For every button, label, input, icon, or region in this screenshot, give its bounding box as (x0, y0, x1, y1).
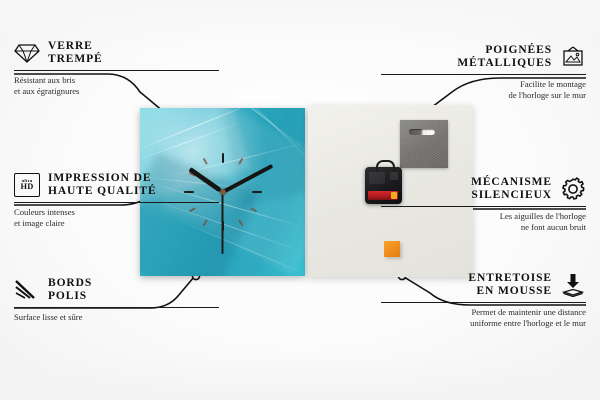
picture-frame-hanger-icon (560, 44, 586, 70)
feature-description: Résistant aux bris et aux égratignures (14, 75, 219, 96)
infographic-canvas: VERRE TREMPÉ Résistant aux bris et aux é… (0, 0, 600, 400)
feature-mecanisme-silencieux: MÉCANISME SILENCIEUX Les aiguilles de l'… (381, 176, 586, 232)
divider (14, 70, 219, 71)
feature-title: IMPRESSION DE HAUTE QUALITÉ (48, 172, 157, 198)
feature-bords-polis: BORDS POLIS Surface lisse et sûre (14, 277, 219, 323)
gear-icon (560, 176, 586, 202)
foam-spacer (384, 241, 400, 257)
feature-description: Surface lisse et sûre (14, 312, 219, 323)
feature-title: VERRE TREMPÉ (48, 40, 103, 66)
divider (14, 202, 219, 203)
diamond-icon (14, 40, 40, 66)
divider (381, 74, 586, 75)
feature-impression-haute-qualite: ultra HD IMPRESSION DE HAUTE QUALITÉ Cou… (14, 172, 219, 228)
feature-verre-trempe: VERRE TREMPÉ Résistant aux bris et aux é… (14, 40, 219, 96)
hand-center-cap (220, 189, 226, 195)
feature-poignees-metalliques: POIGNÉES MÉTALLIQUES Facilite le montage… (381, 44, 586, 100)
press-down-arrow-icon (560, 272, 586, 298)
hd-label: HD (21, 183, 34, 191)
second-hand (222, 192, 224, 254)
feature-title: BORDS POLIS (48, 277, 92, 303)
divider (14, 307, 219, 308)
feature-description: Les aiguilles de l'horloge ne font aucun… (381, 211, 586, 232)
feature-entretoise-en-mousse: ENTRETOISE EN MOUSSE Permet de maintenir… (381, 272, 586, 328)
divider (381, 206, 586, 207)
feature-description: Couleurs intenses et image claire (14, 207, 219, 228)
mechanism-hanging-loop (376, 160, 395, 172)
feature-title: POIGNÉES MÉTALLIQUES (457, 44, 552, 70)
feature-title: ENTRETOISE EN MOUSSE (468, 272, 552, 298)
divider (381, 302, 586, 303)
feature-description: Permet de maintenir une distance uniform… (381, 307, 586, 328)
feature-title: MÉCANISME SILENCIEUX (471, 176, 552, 202)
polished-edge-icon (14, 277, 40, 303)
feature-description: Facilite le montage de l'horloge sur le … (381, 79, 586, 100)
ultra-hd-icon: ultra HD (14, 172, 40, 198)
hanger-keyhole-slot (409, 129, 435, 135)
metallic-hanger-plate (400, 120, 448, 168)
